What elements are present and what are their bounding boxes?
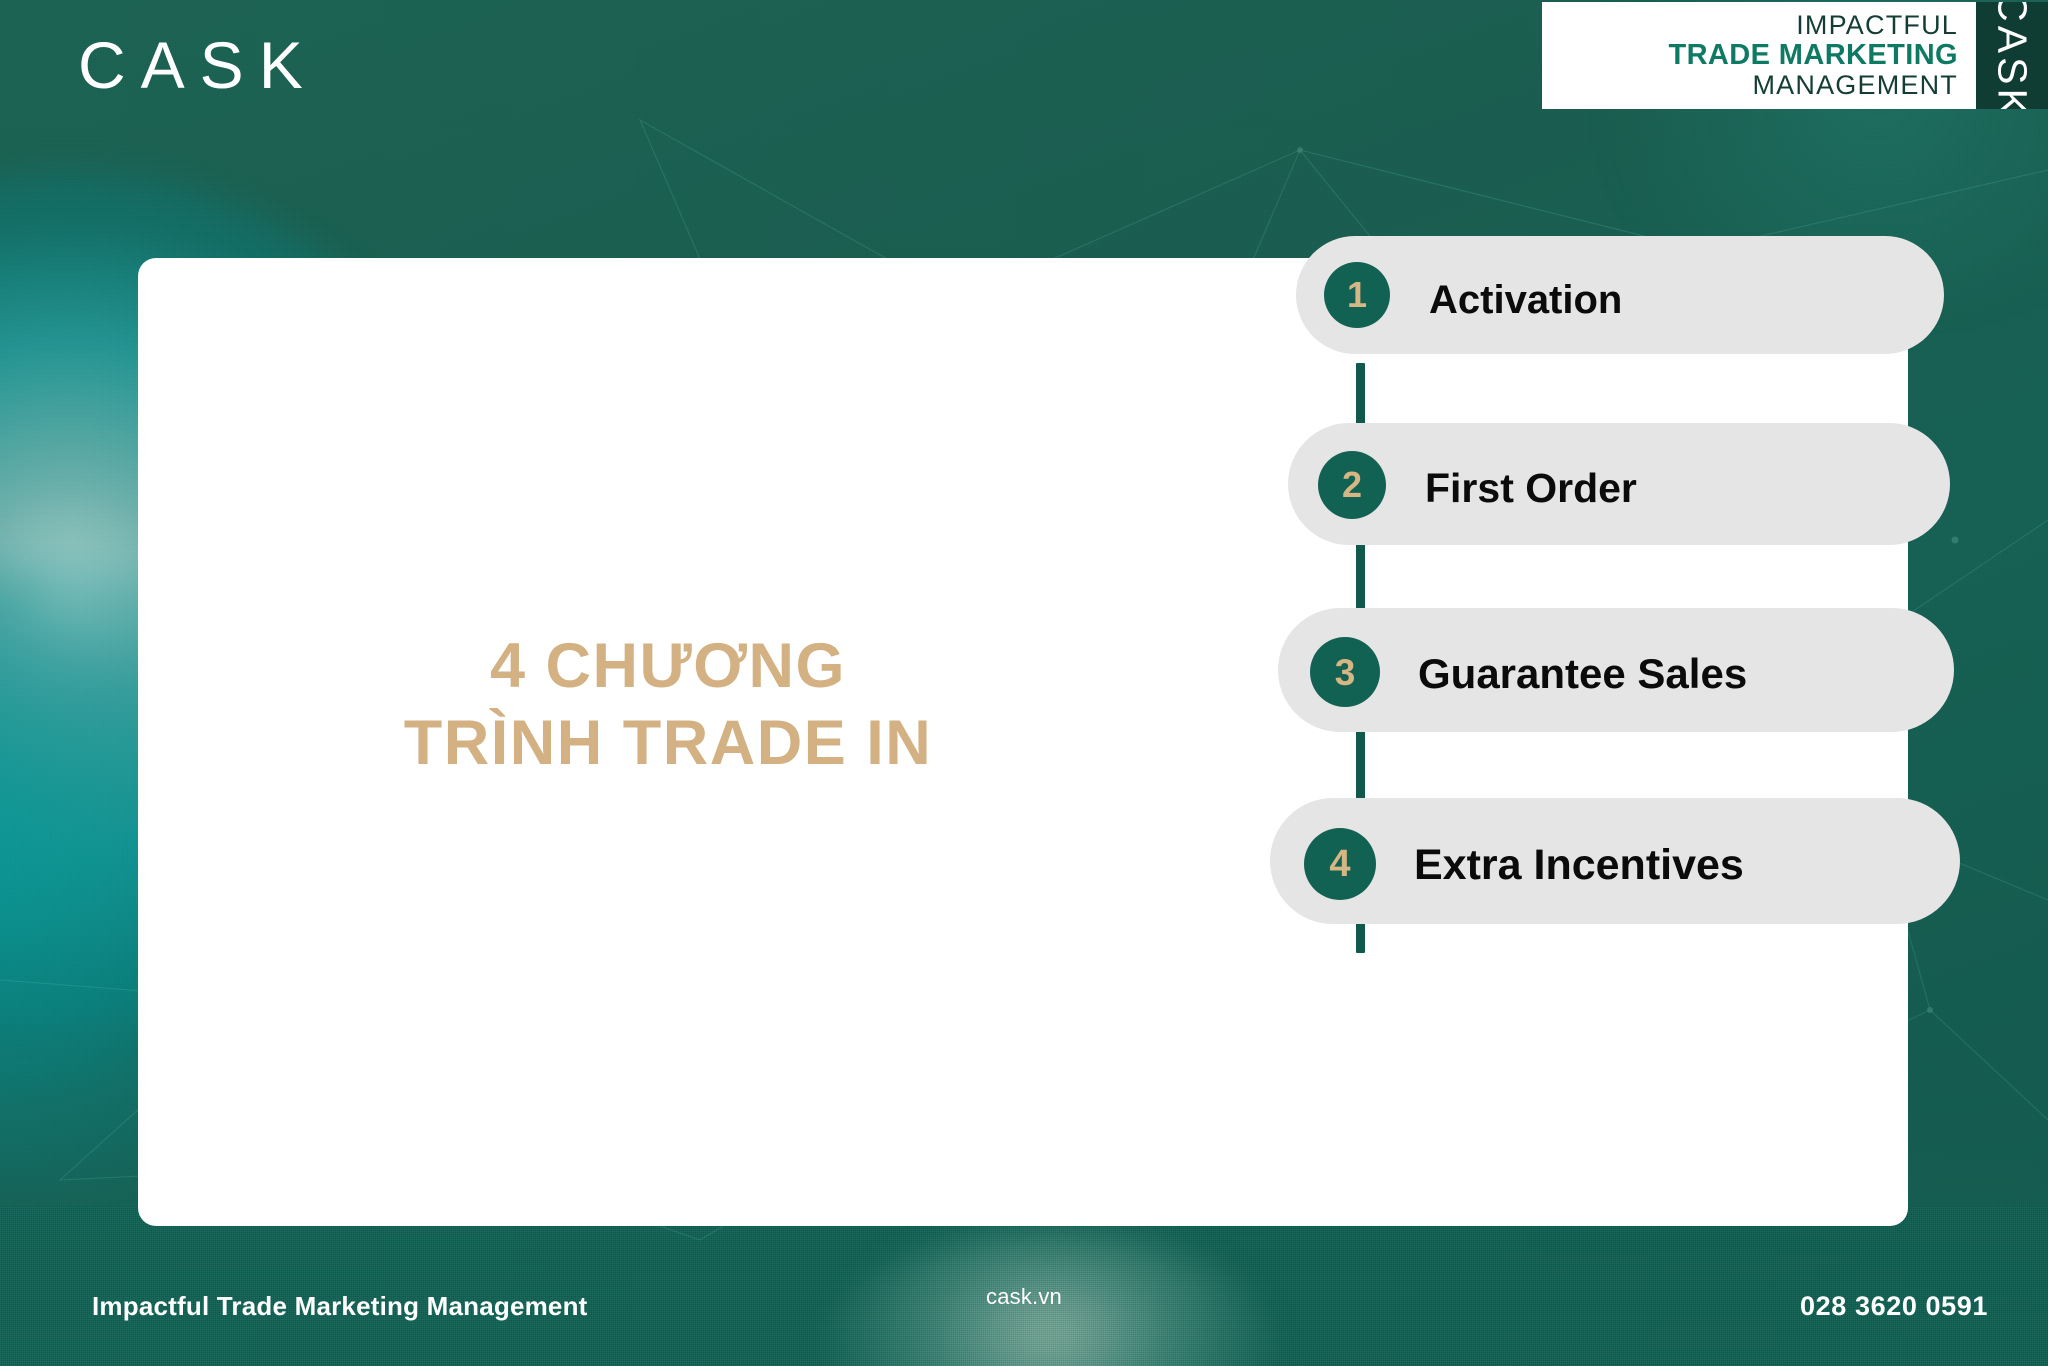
cask-logo: CASK	[78, 32, 318, 98]
step-label-4: Extra Incentives	[1414, 844, 1744, 887]
step-item-4[interactable]: 4 Extra Incentives	[1270, 798, 1960, 924]
step-label-2: First Order	[1425, 468, 1637, 509]
footer-tagline: Impactful Trade Marketing Management	[92, 1291, 588, 1322]
badge-vertical-cask-strip: CASK	[1976, 2, 2048, 109]
steps-list: 1 Activation 2 First Order 3 Guarantee S…	[1148, 258, 1908, 1226]
step-number-badge-2: 2	[1318, 451, 1386, 519]
step-label-1: Activation	[1429, 280, 1622, 320]
step-number-badge-4: 4	[1304, 828, 1376, 900]
headline-line-2: TRÌNH TRADE IN	[228, 705, 1108, 782]
slide-canvas: CASK IMPACTFUL TRADE MARKETING MANAGEMEN…	[0, 0, 2048, 1366]
badge-line-impactful: IMPACTFUL	[1796, 11, 1958, 40]
step-label-3: Guarantee Sales	[1418, 653, 1747, 695]
badge-line-trade-marketing: TRADE MARKETING	[1668, 40, 1958, 71]
step-item-2[interactable]: 2 First Order	[1288, 423, 1950, 545]
step-number-1: 1	[1347, 277, 1367, 313]
step-number-2: 2	[1342, 467, 1362, 503]
headline-line-1: 4 CHƯƠNG	[228, 628, 1108, 705]
step-item-3[interactable]: 3 Guarantee Sales	[1278, 608, 1954, 732]
step-number-badge-3: 3	[1310, 637, 1380, 707]
impactful-trade-marketing-badge: IMPACTFUL TRADE MARKETING MANAGEMENT CAS…	[1542, 2, 2048, 109]
footer-phone[interactable]: 028 3620 0591	[1800, 1291, 1988, 1322]
badge-text-block: IMPACTFUL TRADE MARKETING MANAGEMENT	[1542, 2, 1976, 109]
step-number-3: 3	[1335, 654, 1356, 691]
step-item-1[interactable]: 1 Activation	[1296, 236, 1944, 354]
step-number-badge-1: 1	[1324, 262, 1390, 328]
step-number-4: 4	[1329, 845, 1350, 883]
badge-strip-label: CASK	[1989, 2, 2036, 109]
footer-website[interactable]: cask.vn	[986, 1284, 1062, 1309]
content-card: 1 Activation 2 First Order 3 Guarantee S…	[138, 258, 1908, 1226]
headline: 4 CHƯƠNG TRÌNH TRADE IN	[228, 628, 1108, 782]
badge-line-management: MANAGEMENT	[1752, 71, 1958, 100]
